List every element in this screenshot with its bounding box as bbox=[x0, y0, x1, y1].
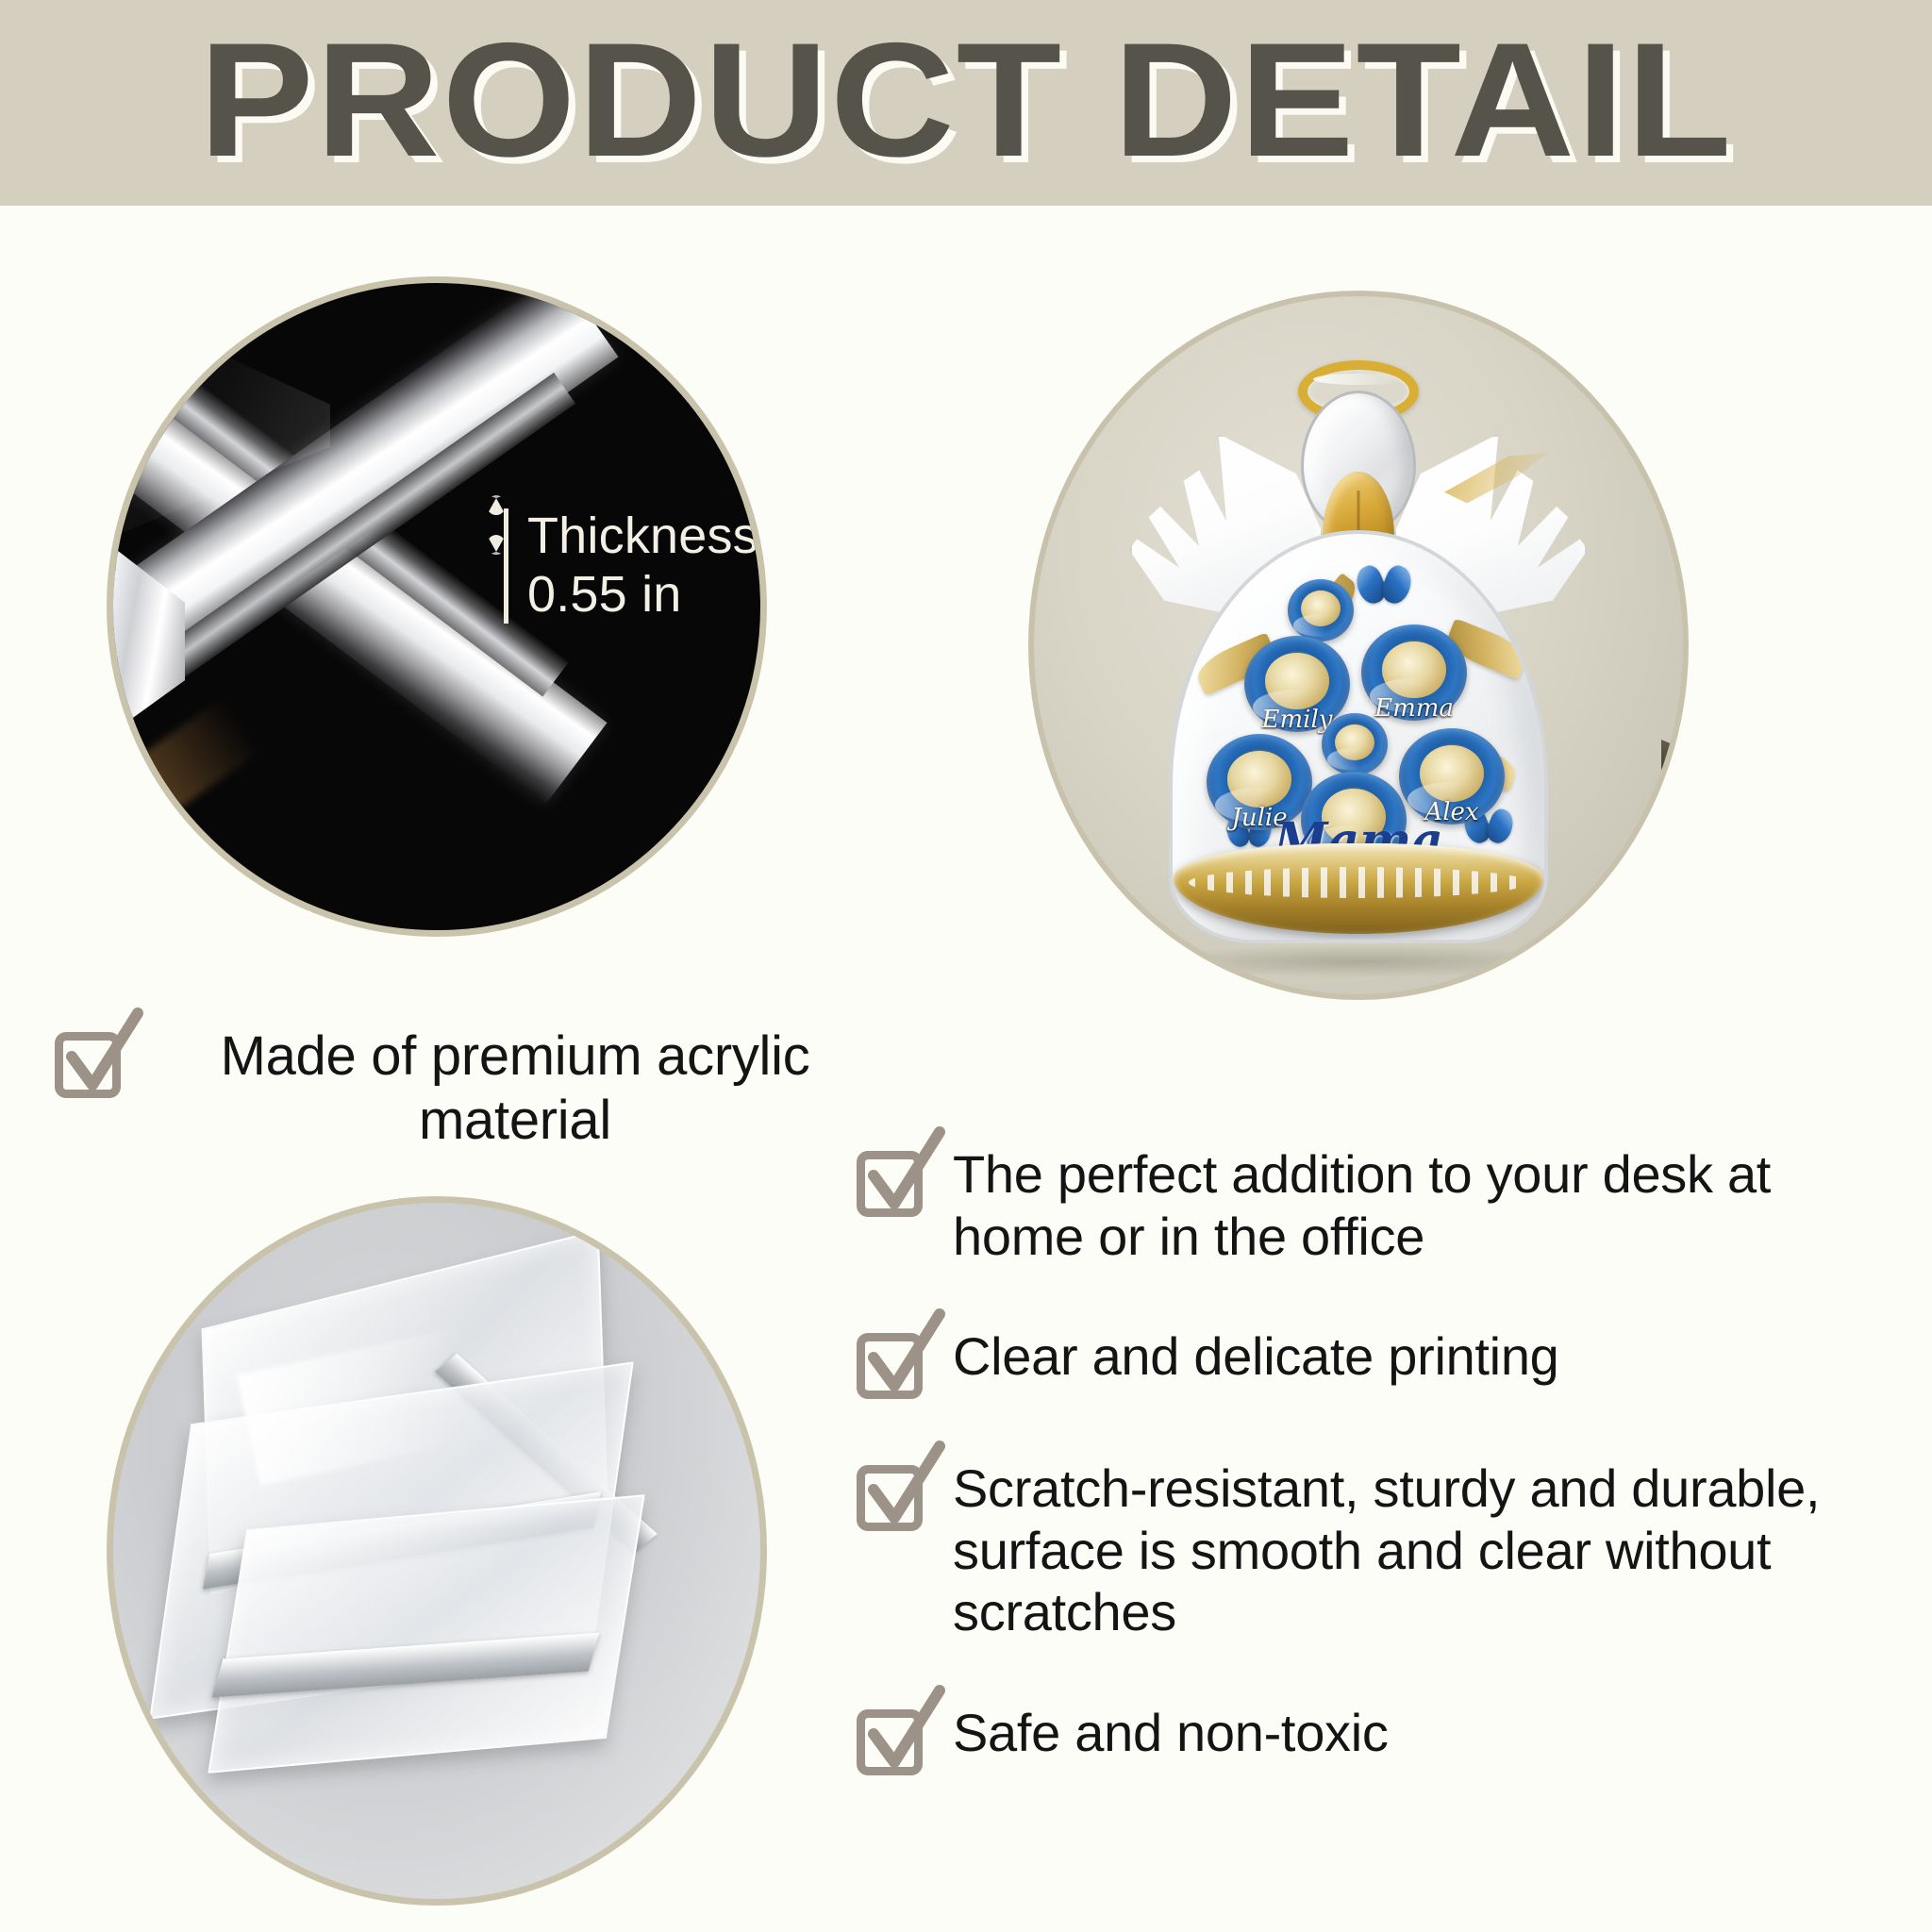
feature-premium-acrylic: Made of premium acrylic material bbox=[55, 1024, 904, 1153]
base-gem-row bbox=[1189, 867, 1529, 898]
rose-name-label: Emily bbox=[1262, 706, 1333, 734]
ornament-shadow bbox=[1151, 945, 1566, 977]
checkbox-check-icon bbox=[55, 1024, 128, 1098]
thickness-text: Thickness 0.55 in bbox=[527, 508, 758, 624]
checkmark-icon bbox=[862, 1312, 943, 1403]
rose-named: Emma bbox=[1361, 625, 1467, 721]
thickness-callout: Thickness 0.55 in bbox=[496, 495, 758, 637]
checkmark-icon bbox=[60, 1011, 142, 1102]
feature-list: The perfect addition to your desk at hom… bbox=[857, 1143, 1913, 1775]
header-band: PRODUCT DETAIL bbox=[0, 0, 1932, 206]
rose-named: Alex bbox=[1399, 728, 1505, 824]
checkbox-check-icon bbox=[857, 1457, 930, 1531]
angel-ornament: Emily Emma Julie Alex Lucas Mama bbox=[1137, 351, 1580, 955]
feature-label: The perfect addition to your desk at hom… bbox=[953, 1143, 1906, 1267]
checkbox-check-icon bbox=[857, 1143, 930, 1217]
thickness-line-1: Thickness bbox=[527, 508, 758, 566]
feature-label: Safe and non-toxic bbox=[953, 1702, 1389, 1764]
rose-bud bbox=[1288, 579, 1354, 641]
product-detail-infographic: PRODUCT DETAIL Thickness 0.55 in bbox=[0, 0, 1932, 1932]
checkmark-icon bbox=[862, 1444, 943, 1535]
acrylic-sheets-circle bbox=[107, 1196, 767, 1906]
thickness-line-2: 0.55 in bbox=[527, 566, 758, 625]
checkbox-check-icon bbox=[857, 1702, 930, 1775]
checkmark-icon bbox=[862, 1689, 943, 1779]
feature-label: Clear and delicate printing bbox=[953, 1325, 1559, 1388]
feature-non-toxic: Safe and non-toxic bbox=[857, 1702, 1913, 1775]
rose-name-label: Emma bbox=[1374, 694, 1454, 723]
feature-label: Made of premium acrylic material bbox=[151, 1024, 879, 1153]
rose-named: Emily bbox=[1244, 636, 1350, 732]
feature-clear-printing: Clear and delicate printing bbox=[857, 1325, 1913, 1399]
double-arrow-icon bbox=[496, 495, 515, 637]
checkmark-icon bbox=[862, 1130, 943, 1221]
feature-scratch-resistant: Scratch-resistant, sturdy and durable, s… bbox=[857, 1457, 1913, 1643]
thickness-photo-circle: Thickness 0.55 in bbox=[107, 276, 767, 937]
ornament-base bbox=[1174, 843, 1543, 934]
page-title: PRODUCT DETAIL bbox=[199, 19, 1734, 181]
edge-artifact bbox=[1661, 740, 1686, 796]
angel-product-circle: Emily Emma Julie Alex Lucas Mama bbox=[1028, 291, 1689, 1000]
feature-desk-addition: The perfect addition to your desk at hom… bbox=[857, 1143, 1913, 1267]
rose-bud bbox=[1322, 713, 1388, 775]
butterfly-icon bbox=[1357, 566, 1410, 606]
feature-label: Scratch-resistant, sturdy and durable, s… bbox=[953, 1457, 1906, 1643]
checkbox-check-icon bbox=[857, 1325, 930, 1399]
